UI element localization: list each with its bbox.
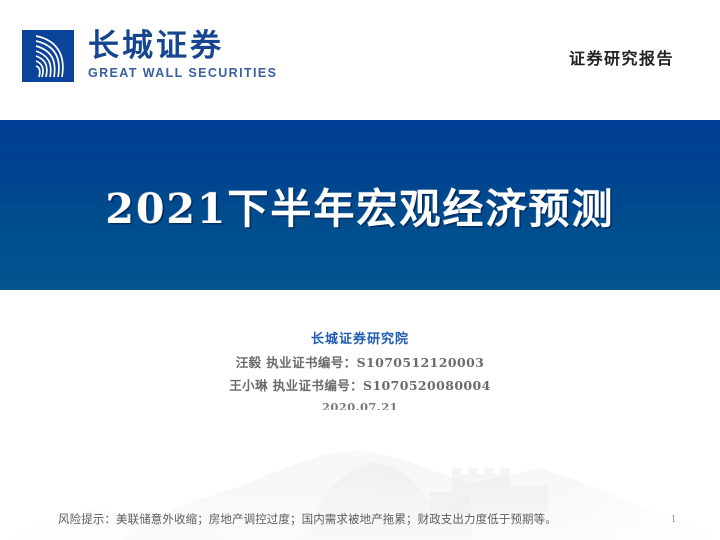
brand-logo: 长城证券 GREAT WALL SECURITIES: [22, 30, 277, 82]
report-type-label: 证券研究报告: [569, 45, 674, 69]
great-wall-globe-mark-icon: [22, 30, 74, 82]
analyst-line-2: 王小琳 执业证书编号：S1070520080004: [0, 374, 720, 397]
report-date: 2020.07.21: [0, 397, 720, 419]
page-number: 1: [671, 514, 676, 525]
credits-block: 长城证券研究院 汪毅 执业证书编号：S1070512120003 王小琳 执业证…: [0, 330, 720, 419]
page-title: 2021下半年宏观经济预测: [105, 175, 614, 235]
slide-cover: 长城证券 GREAT WALL SECURITIES 证券研究报告 2021下半…: [0, 0, 720, 540]
analyst-line-1: 汪毅 执业证书编号：S1070512120003: [0, 351, 720, 374]
slide-header: 长城证券 GREAT WALL SECURITIES 证券研究报告: [0, 0, 720, 120]
slide-footer: 风险提示：美联储意外收缩；房地产调控过度；国内需求被地产拖累；财政支出力度低于预…: [0, 506, 720, 532]
institute-name: 长城证券研究院: [0, 330, 720, 351]
title-banner: 2021下半年宏观经济预测: [0, 120, 720, 290]
risk-disclaimer: 风险提示：美联储意外收缩；房地产调控过度；国内需求被地产拖累；财政支出力度低于预…: [58, 511, 557, 527]
brand-name-en: GREAT WALL SECURITIES: [88, 66, 277, 80]
brand-wordmark: 长城证券 GREAT WALL SECURITIES: [88, 30, 277, 80]
brand-name-cn: 长城证券: [88, 30, 277, 63]
